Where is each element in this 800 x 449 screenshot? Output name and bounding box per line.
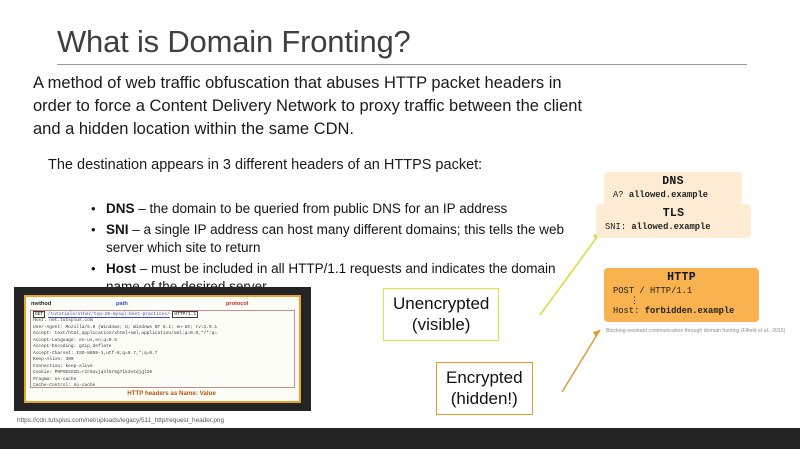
bullet-term: DNS (106, 201, 135, 216)
http-header-line: Cache-Control: no-cache (33, 383, 292, 388)
dns-query-value: allowed.example (629, 190, 708, 200)
page-title: What is Domain Fronting? (57, 24, 411, 60)
callout-encrypted: Encrypted (hidden!) (436, 362, 533, 415)
http-request-annotations: method path protocol (30, 300, 295, 309)
embedded-http-request-screenshot: method path protocol GET /tutorials/othe… (14, 287, 311, 411)
packet-card-tls-title: TLS (596, 206, 751, 221)
list-item: • SNI – a single IP address can host man… (88, 221, 568, 258)
footer-bar (0, 428, 800, 449)
bullet-term: Host (106, 261, 136, 276)
packet-card-dns-line: A? allowed.example (604, 189, 742, 201)
annotation-method: method (31, 300, 51, 309)
bullet-term: SNI (106, 222, 129, 237)
packet-card-http-title: HTTP (604, 270, 759, 285)
callout-unencrypted-line2: (visible) (393, 314, 489, 335)
list-item: • DNS – the domain to be queried from pu… (88, 200, 568, 219)
bullet-dot-icon: • (91, 200, 96, 219)
bullet-dot-icon: • (91, 260, 96, 279)
connector-encrypted (562, 330, 600, 392)
header-bullet-list: • DNS – the domain to be queried from pu… (88, 200, 568, 299)
packet-card-dns-title: DNS (604, 174, 742, 189)
http-request-caption: HTTP headers as Name: Value (30, 390, 295, 397)
callout-unencrypted: Unencrypted (visible) (383, 288, 499, 341)
packet-card-http-requestline: POST / HTTP/1.1 (604, 285, 759, 297)
lead-paragraph: A method of web traffic obfuscation that… (33, 72, 593, 141)
callout-encrypted-line1: Encrypted (446, 367, 523, 388)
sni-value: allowed.example (631, 222, 710, 232)
dns-query-prefix: A? (613, 190, 629, 200)
http-request-figure: method path protocol GET /tutorials/othe… (24, 295, 301, 403)
connector-encrypted-arrowhead (593, 330, 600, 337)
annotation-protocol: protocol (226, 300, 248, 309)
source-url-text: https://cdn.tutsplus.com/net/uploads/leg… (17, 417, 224, 424)
callout-encrypted-line2: (hidden!) (446, 388, 523, 409)
packet-card-http: HTTP POST / HTTP/1.1 ⋮ Host: forbidden.e… (604, 268, 759, 322)
figure-citation: Blocking-resistant communication through… (606, 328, 786, 335)
bullet-dot-icon: • (91, 221, 96, 240)
packet-card-http-ellipsis: ⋮ (604, 297, 759, 305)
host-value: forbidden.example (645, 306, 735, 316)
callout-unencrypted-line1: Unencrypted (393, 293, 489, 314)
http-method-token: GET (33, 311, 45, 318)
sni-prefix: SNI: (605, 222, 631, 232)
host-prefix: Host: (613, 306, 645, 316)
packet-card-tls: TLS SNI: allowed.example (596, 204, 751, 238)
packet-card-http-hostline: Host: forbidden.example (604, 305, 759, 317)
http-request-header-block: GET /tutorials/other/top-20-mysql-best-p… (30, 310, 295, 388)
http-protocol-token: HTTP/1.1 (172, 311, 198, 318)
annotation-path: path (116, 300, 128, 309)
packet-card-dns: DNS A? allowed.example (604, 172, 742, 206)
title-divider (57, 64, 747, 65)
slide-canvas: What is Domain Fronting? A method of web… (0, 0, 800, 449)
packet-card-tls-line: SNI: allowed.example (596, 221, 751, 233)
bullet-text: – the domain to be queried from public D… (135, 201, 508, 216)
bullet-text: – a single IP address can host many diff… (106, 222, 564, 256)
sub-intro-text: The destination appears in 3 different h… (48, 155, 548, 175)
